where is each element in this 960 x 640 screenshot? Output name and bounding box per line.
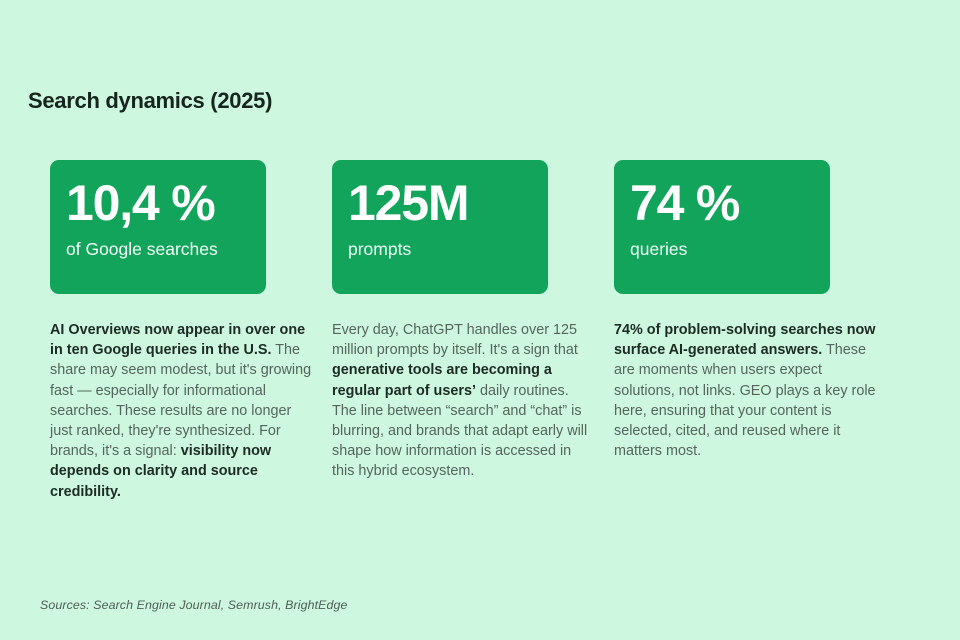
stat-card: 125M prompts [332, 160, 548, 294]
stat-label: queries [630, 239, 814, 260]
sources-note: Sources: Search Engine Journal, Semrush,… [40, 598, 347, 612]
stat-column: 10,4 % of Google searches AI Overviews n… [50, 160, 266, 502]
stat-column: 125M prompts Every day, ChatGPT handles … [332, 160, 548, 502]
stat-value: 74 % [630, 178, 814, 230]
stat-columns: 10,4 % of Google searches AI Overviews n… [50, 160, 910, 502]
infographic-canvas: Search dynamics (2025) 10,4 % of Google … [0, 0, 960, 640]
stat-description: AI Overviews now appear in over one in t… [50, 320, 312, 502]
page-title: Search dynamics (2025) [28, 88, 272, 114]
stat-description: 74% of problem-solving searches now surf… [614, 320, 876, 461]
stat-card: 74 % queries [614, 160, 830, 294]
stat-value: 10,4 % [66, 178, 250, 230]
emphasis-text: AI Overviews now appear in over one in t… [50, 322, 305, 358]
stat-value: 125M [348, 178, 532, 230]
plain-text: These are moments when users expect solu… [614, 342, 876, 459]
stat-label: prompts [348, 239, 532, 260]
stat-column: 74 % queries 74% of problem-solving sear… [614, 160, 830, 502]
plain-text: The share may seem modest, but it's grow… [50, 342, 311, 459]
stat-card: 10,4 % of Google searches [50, 160, 266, 294]
stat-description: Every day, ChatGPT handles over 125 mill… [332, 320, 594, 482]
plain-text: Every day, ChatGPT handles over 125 mill… [332, 322, 578, 358]
stat-label: of Google searches [66, 239, 250, 260]
